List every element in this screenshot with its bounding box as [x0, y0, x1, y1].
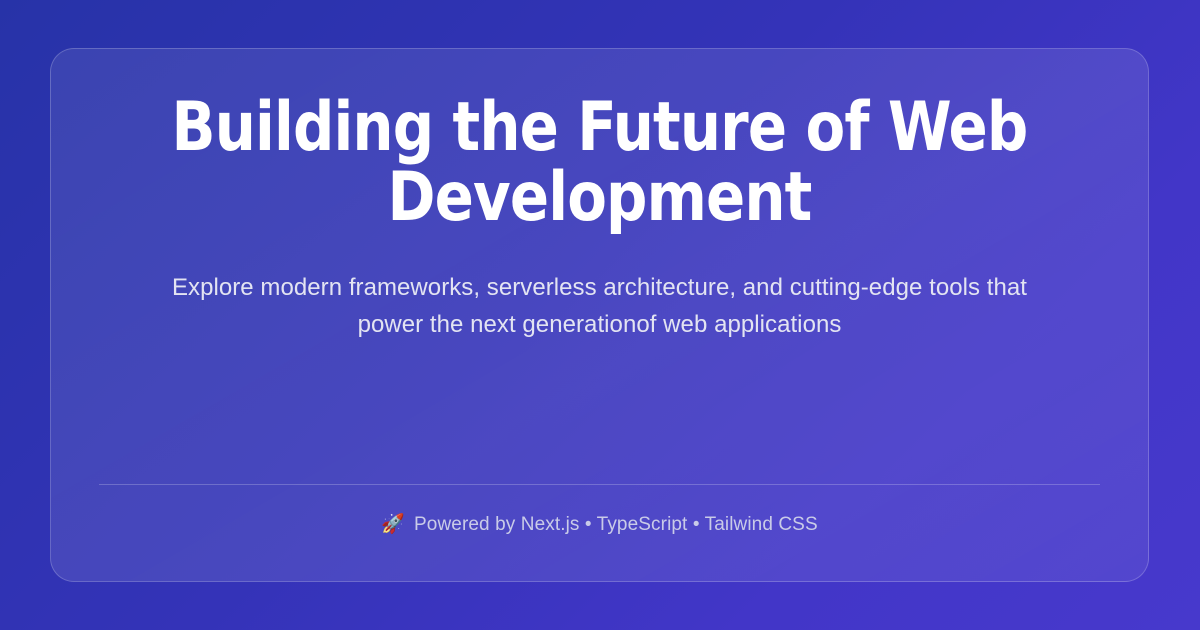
card-footer: 🚀 Powered by Next.js • TypeScript • Tail… [99, 484, 1100, 581]
rocket-icon: 🚀 [381, 515, 405, 534]
og-canvas: Building the Future of Web Development E… [0, 0, 1200, 630]
tech-stack-credit: 🚀 Powered by Next.js • TypeScript • Tail… [99, 513, 1100, 537]
page-subtitle: Explore modern frameworks, serverless ar… [165, 269, 1035, 343]
tech-stack-label: Powered by Next.js • TypeScript • Tailwi… [414, 513, 818, 537]
page-title: Building the Future of Web Development [123, 93, 1077, 233]
hero-card: Building the Future of Web Development E… [50, 48, 1149, 582]
footer-divider [99, 484, 1100, 485]
